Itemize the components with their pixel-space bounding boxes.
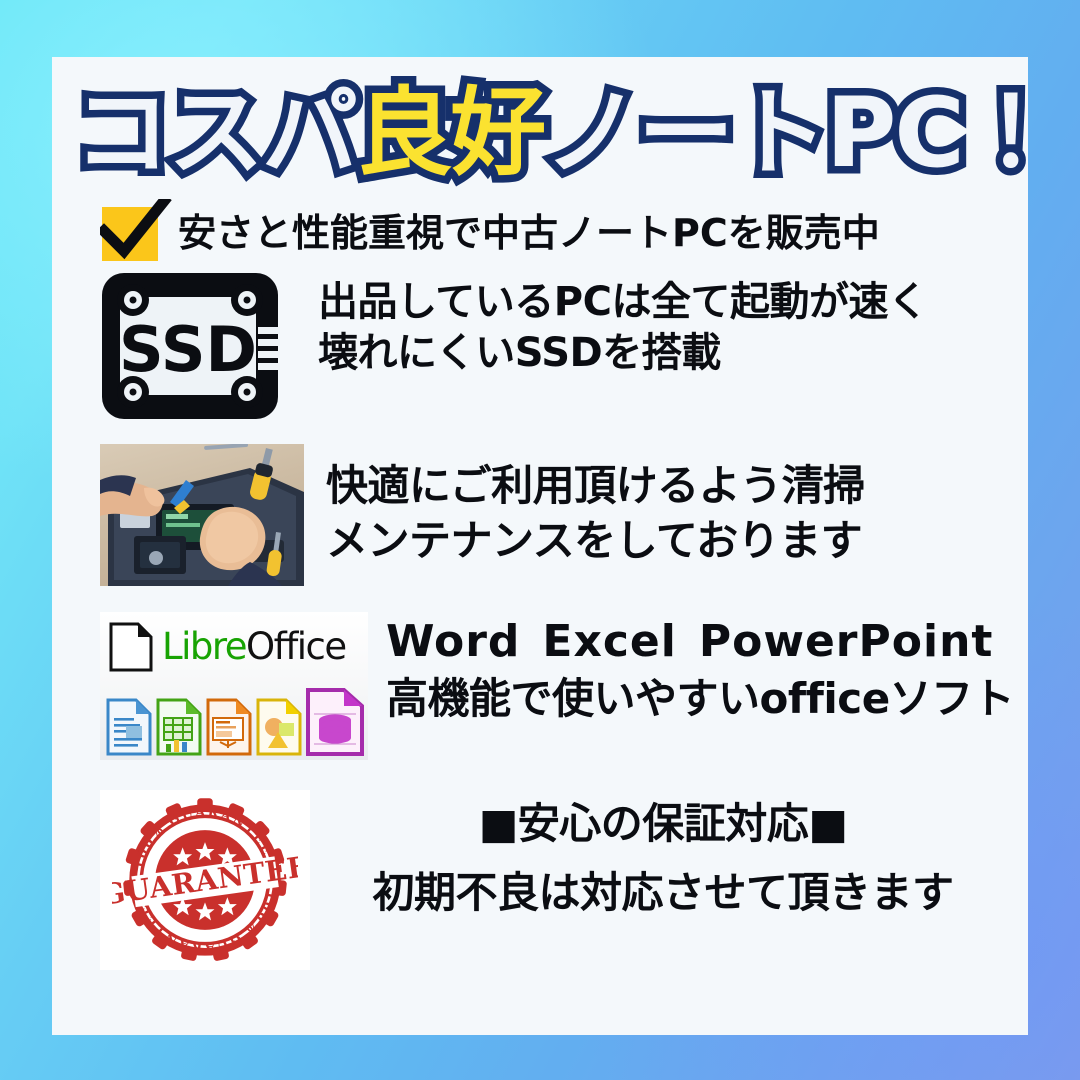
- office-text: WordExcelPowerPoint 高機能で使いやすいofficeソフト: [368, 612, 1014, 726]
- page-title: コスパ良好ノートPC！: [74, 85, 1006, 183]
- guarantee-headline: ■安心の保証対応■: [320, 796, 1006, 851]
- office-description: 高機能で使いやすいofficeソフト: [386, 671, 1014, 726]
- ssd-line-1: 出品しているPCは全て起動が速く: [318, 277, 927, 328]
- maintenance-text: 快適にご利用頂けるよう清掃 メンテナンスをしております: [304, 444, 865, 569]
- ssd-line-2: 壊れにくいSSDを搭載: [318, 328, 927, 379]
- ssd-text: 出品しているPCは全て起動が速く 壊れにくいSSDを搭載: [296, 271, 927, 379]
- office-app-word: Word: [386, 616, 520, 667]
- libreoffice-base-icon: [304, 686, 366, 758]
- maintenance-line-2: メンテナンスをしております: [326, 513, 865, 568]
- document-icon: [108, 622, 154, 672]
- brand-office: Office: [246, 625, 346, 668]
- tagline-text: 安さと性能重視で中古ノートPCを販売中: [178, 202, 880, 257]
- libreoffice-writer-icon: [104, 696, 154, 758]
- laptop-repair-photo: [100, 444, 304, 586]
- libreoffice-logo: LibreOffice: [100, 612, 368, 760]
- office-apps-headline: WordExcelPowerPoint: [386, 616, 1014, 667]
- title-part-2: ノートPC！: [544, 77, 1057, 189]
- promotional-poster: コスパ良好ノートPC！ 安さと性能重視で中古ノートPCを販売中: [0, 0, 1080, 1080]
- ssd-drive-icon: SSD: [100, 271, 296, 426]
- feature-office: LibreOffice: [100, 612, 1006, 760]
- libreoffice-calc-icon: [154, 696, 204, 758]
- check-square-icon: [100, 199, 172, 261]
- svg-text:SSD: SSD: [119, 313, 257, 386]
- brand-libre: Libre: [162, 625, 246, 668]
- title-part-1: コスパ: [74, 77, 356, 189]
- feature-guarantee: ★ 100% GUARANTEED ★ ★ 100% GUARANTEED ★: [100, 790, 1006, 970]
- office-app-powerpoint: PowerPoint: [699, 616, 994, 667]
- libreoffice-draw-icon: [254, 696, 304, 758]
- guarantee-description: 初期不良は対応させて頂きます: [320, 865, 1006, 920]
- libreoffice-app-icons: [104, 686, 366, 758]
- libreoffice-impress-icon: [204, 696, 254, 758]
- feature-tagline: 安さと性能重視で中古ノートPCを販売中: [100, 199, 1006, 261]
- content-card: コスパ良好ノートPC！ 安さと性能重視で中古ノートPCを販売中: [52, 57, 1028, 1035]
- libreoffice-wordmark: LibreOffice: [100, 612, 368, 672]
- feature-maintenance: 快適にご利用頂けるよう清掃 メンテナンスをしております: [100, 444, 1006, 586]
- guarantee-stamp: ★ 100% GUARANTEED ★ ★ 100% GUARANTEED ★: [100, 790, 310, 970]
- guarantee-text: ■安心の保証対応■ 初期不良は対応させて頂きます: [310, 790, 1006, 921]
- feature-ssd: SSD 出品しているPCは全て起動が速く 壊れにくいSSDを搭載: [100, 271, 1006, 426]
- maintenance-line-1: 快適にご利用頂けるよう清掃: [326, 458, 865, 513]
- title-highlight: 良好: [356, 77, 544, 189]
- office-app-excel: Excel: [542, 616, 676, 667]
